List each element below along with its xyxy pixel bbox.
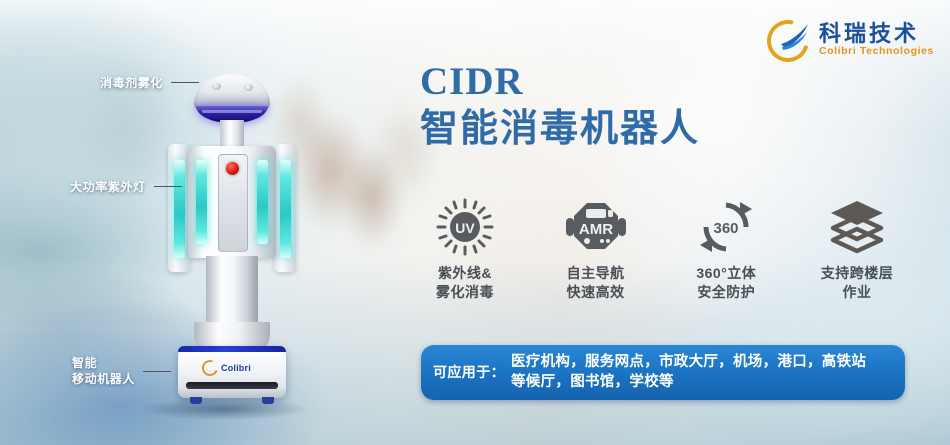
uv-lamp-tube-icon — [174, 160, 185, 258]
feature-label-line2: 安全防护 — [696, 283, 756, 302]
callout-disinfectant-atomization: 消毒剂雾化 — [100, 74, 199, 91]
application-banner-text: 医疗机构，服务网点，市政大厅，机场，港口，高铁站 等候厅，图书馆，学校等 — [511, 352, 866, 393]
application-banner-line1: 医疗机构，服务网点，市政大厅，机场，港口，高铁站 — [511, 354, 866, 370]
brand-name-cn: 科瑞技术 — [819, 22, 934, 46]
robot-sensor-dot-icon — [212, 83, 221, 90]
svg-text:360: 360 — [714, 220, 739, 237]
uv-lamp-tube-icon — [196, 160, 207, 244]
brand-name-en: Colibri Technologies — [819, 46, 934, 58]
callout-label: 大功率紫外灯 — [70, 178, 146, 195]
brand-logo: 科瑞技术 Colibri Technologies — [767, 18, 934, 62]
application-banner: 可应用于： 医疗机构，服务网点，市政大厅，机场，港口，高铁站 等候厅，图书馆，学… — [421, 345, 905, 400]
feature-label-line1: 自主导航 — [567, 264, 625, 283]
logo-bird-swoosh-icon — [779, 23, 809, 51]
callout-label-line2: 移动机器人 — [72, 371, 135, 387]
feature-list: UV 紫外线& 雾化消毒 AMR — [406, 196, 916, 302]
robot-sensor-dot-icon — [244, 84, 253, 91]
layers-icon — [827, 196, 887, 258]
colibri-logo-icon — [767, 18, 811, 62]
colibri-mark-icon — [199, 357, 220, 378]
callout-label-lines: 智能 移动机器人 — [72, 355, 135, 387]
callout-intelligent-mobile-robot: 智能 移动机器人 — [72, 355, 171, 387]
callout-label: 消毒剂雾化 — [100, 74, 163, 91]
feature-label: 支持跨楼层 作业 — [821, 264, 894, 302]
rotate-360-icon: 360 — [696, 196, 756, 258]
uv-sun-icon: UV — [436, 196, 494, 258]
robot-base-sensor-slot — [186, 382, 278, 389]
disinfection-robot-image: Colibri — [168, 70, 296, 410]
product-code: CIDR — [420, 62, 700, 103]
feature-label-line2: 快速高效 — [567, 283, 625, 302]
robot-base-logo: Colibri — [202, 360, 251, 376]
uv-lamp-tube-icon — [257, 160, 268, 244]
feature-label-line1: 紫外线& — [436, 264, 494, 283]
feature-label-line2: 雾化消毒 — [436, 283, 494, 302]
headline-block: CIDR 智能消毒机器人 — [420, 62, 700, 151]
callout-leader-line — [143, 371, 171, 372]
feature-autonomous-navigation: AMR 自主导航 快速高效 — [537, 196, 655, 302]
product-name: 智能消毒机器人 — [420, 109, 700, 151]
callout-leader-line — [154, 186, 182, 187]
emergency-stop-button-icon — [226, 162, 239, 175]
uv-lamp-tube-icon — [280, 160, 291, 258]
product-banner: Colibri 消毒剂雾化 大功率紫外灯 智能 移动机器人 科瑞技术 Colib… — [0, 0, 950, 445]
robot-wheel-icon — [190, 397, 202, 404]
robot-base-logo-text: Colibri — [221, 363, 251, 373]
callout-label-line1: 智能 — [72, 355, 135, 371]
brand-wordmark: 科瑞技术 Colibri Technologies — [819, 22, 934, 58]
feature-label: 紫外线& 雾化消毒 — [436, 264, 494, 302]
svg-text:UV: UV — [455, 220, 475, 236]
feature-label-line2: 作业 — [821, 283, 894, 302]
feature-label: 360°立体 安全防护 — [696, 264, 756, 302]
application-banner-line2: 等候厅，图书馆，学校等 — [511, 374, 674, 390]
robot-left-uv-wing — [168, 144, 190, 272]
svg-text:AMR: AMR — [579, 221, 613, 238]
robot-wheel-icon — [262, 397, 274, 404]
feature-uv-disinfection: UV 紫外线& 雾化消毒 — [406, 196, 524, 302]
feature-multi-floor: 支持跨楼层 作业 — [798, 196, 916, 302]
robot-right-uv-wing — [274, 144, 296, 272]
callout-high-power-uv-lamp: 大功率紫外灯 — [70, 178, 182, 195]
robot-base-stripe — [178, 346, 286, 352]
feature-360-protection: 360 360°立体 安全防护 — [667, 196, 785, 302]
feature-label: 自主导航 快速高效 — [567, 264, 625, 302]
feature-label-line1: 支持跨楼层 — [821, 264, 894, 283]
callout-leader-line — [171, 82, 199, 83]
feature-label-line1: 360°立体 — [696, 264, 756, 283]
application-banner-label: 可应用于： — [433, 362, 505, 382]
amr-robot-icon: AMR — [565, 196, 627, 258]
